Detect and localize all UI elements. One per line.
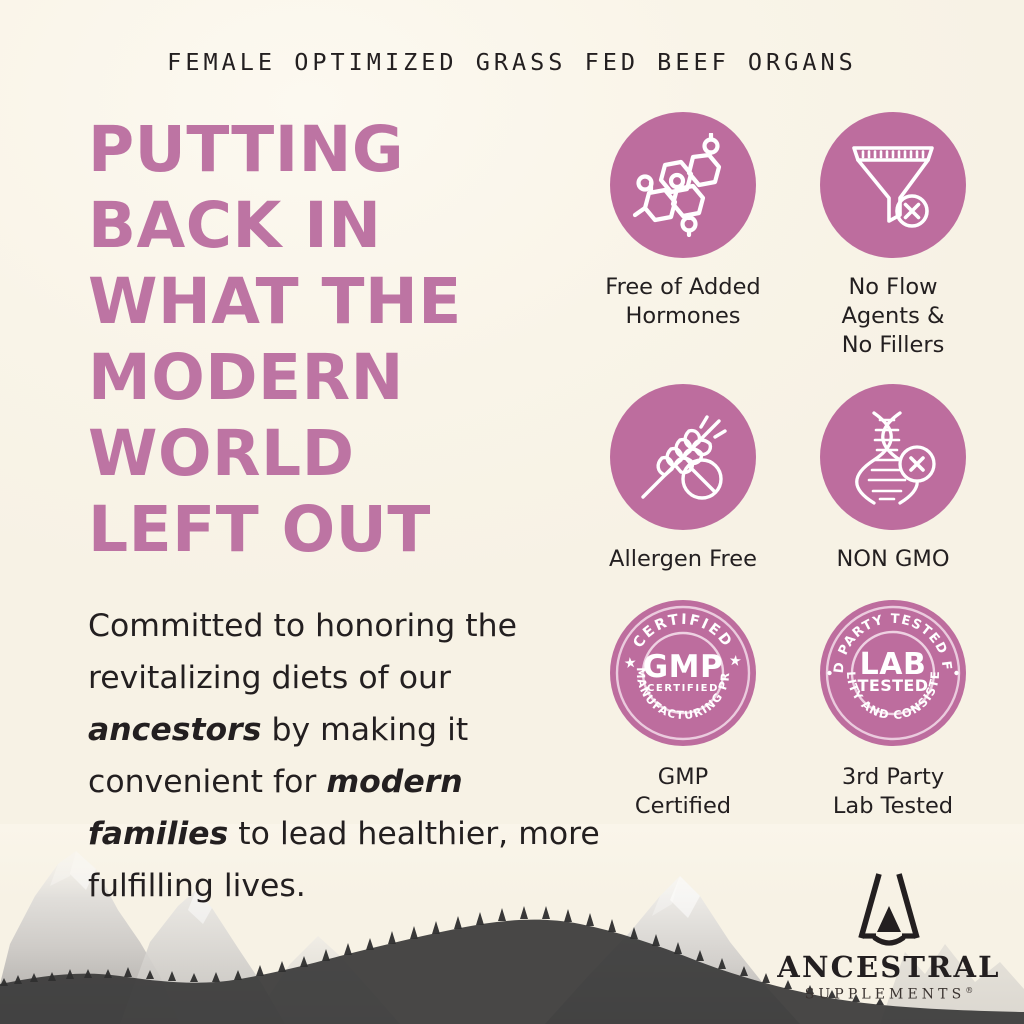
- badge-label: Free of Added Hormones: [605, 273, 760, 331]
- badge-label-line: Agents &: [841, 303, 944, 329]
- badge-non-gmo: NON GMO: [788, 384, 998, 574]
- badge-label: No Flow Agents & No Fillers: [841, 273, 944, 360]
- brand-logo: ANCESTRAL SUPPLEMENTS®: [784, 872, 994, 1002]
- badge-row: Allergen Free: [578, 384, 998, 574]
- badge-allergen-free: Allergen Free: [578, 384, 788, 574]
- paragraph-part-1: Committed to honoring the revitalizing d…: [88, 608, 517, 696]
- badge-label-line: NON GMO: [836, 546, 949, 572]
- badge-row: Free of Added Hormones: [578, 112, 998, 360]
- badge-label: NON GMO: [836, 545, 949, 574]
- badge-3rd-party-lab-tested: 3RD PARTY TESTED FOR QUALITY AND CONSIST…: [788, 598, 998, 821]
- badge-circle: [610, 384, 756, 530]
- hormone-molecule-icon: [631, 133, 735, 237]
- logo-subtitle-text: SUPPLEMENTS: [805, 987, 966, 1003]
- badge-row: ★ CERTIFIED ★ GOOD MANUFACTURING PRACTIC…: [578, 598, 998, 821]
- headline-line: PUTTING: [88, 112, 568, 188]
- badge-circle: [610, 112, 756, 258]
- badge-label-line: Allergen Free: [609, 546, 757, 572]
- badge-label-line: No Flow: [848, 274, 937, 300]
- badge-label-line: Free of Added: [605, 274, 760, 300]
- body-paragraph: Committed to honoring the revitalizing d…: [88, 600, 608, 912]
- headline-line: LEFT OUT: [88, 492, 568, 568]
- gmp-certified-seal-icon: ★ CERTIFIED ★ GOOD MANUFACTURING PRACTIC…: [608, 598, 758, 748]
- badge-label: 3rd Party Lab Tested: [833, 763, 953, 821]
- badge-label: GMP Certified: [635, 763, 731, 821]
- eyebrow-tagline: FEMALE OPTIMIZED GRASS FED BEEF ORGANS: [0, 48, 1024, 76]
- trademark-symbol: ®: [965, 986, 973, 995]
- logo-subtitle: SUPPLEMENTS®: [805, 987, 974, 1002]
- badge-circle: [820, 384, 966, 530]
- page-title: PUTTING BACK IN WHAT THE MODERN WORLD LE…: [88, 112, 568, 568]
- headline-line: BACK IN: [88, 188, 568, 264]
- lab-seal-center-sub: TESTED: [858, 676, 929, 695]
- badge-label-line: Hormones: [625, 303, 740, 329]
- badge-label: Allergen Free: [609, 545, 757, 574]
- badge-free-of-added-hormones: Free of Added Hormones: [578, 112, 788, 360]
- gmp-seal-center-sub: CERTIFIED: [647, 683, 719, 694]
- badge-label-line: Certified: [635, 793, 731, 819]
- headline-line: WHAT THE: [88, 264, 568, 340]
- poster-canvas: FEMALE OPTIMIZED GRASS FED BEEF ORGANS P…: [0, 0, 1024, 1024]
- headline-line: WORLD: [88, 416, 568, 492]
- badge-circle: [820, 112, 966, 258]
- funnel-no-flow-agents-icon: [843, 135, 943, 235]
- dna-no-gmo-icon: [843, 407, 943, 507]
- badge-gmp-certified: ★ CERTIFIED ★ GOOD MANUFACTURING PRACTIC…: [578, 598, 788, 821]
- teepee-triangle-icon: [854, 872, 924, 946]
- badge-label-line: Lab Tested: [833, 793, 953, 819]
- badge-label-line: 3rd Party: [842, 764, 944, 790]
- logo-wordmark: ANCESTRAL: [777, 953, 1001, 982]
- lab-tested-seal-icon: 3RD PARTY TESTED FOR QUALITY AND CONSIST…: [818, 598, 968, 748]
- gmp-seal-center-main: GMP: [643, 649, 724, 685]
- badge-label-line: No Fillers: [842, 332, 945, 358]
- certification-badge-grid: Free of Added Hormones: [578, 112, 998, 821]
- headline-line: MODERN: [88, 340, 568, 416]
- paragraph-emphasis-ancestors: ancestors: [88, 712, 261, 748]
- badge-no-flow-agents: No Flow Agents & No Fillers: [788, 112, 998, 360]
- badge-label-line: GMP: [658, 764, 708, 790]
- wheat-prohibited-icon: [631, 405, 735, 509]
